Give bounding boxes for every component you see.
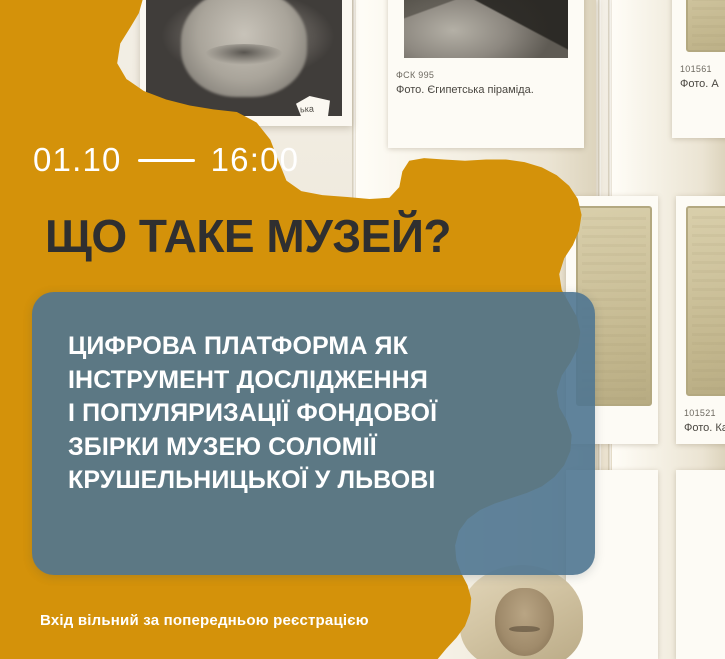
- subtitle-line-4: ЗБІРКИ МУЗЕЮ СОЛОМІЇ: [68, 431, 565, 465]
- subtitle-line-2: ІНСТРУМЕНТ ДОСЛІДЖЕННЯ: [68, 364, 565, 398]
- exhibit-card-pyramid: ФСК 995 Фото. Єгипетська піраміда.: [388, 0, 584, 148]
- exhibit-caption: Фото. Єгипетська піраміда.: [396, 84, 534, 96]
- portrait-face: [495, 588, 554, 656]
- exhibit-card-101561: 101561 Фото. А: [672, 0, 725, 138]
- exhibit-card-101521: 101521 Фото. Кар: [676, 196, 725, 444]
- exhibit-card-lower-right: [676, 470, 725, 659]
- subtitle-line-1: ЦИФРОВА ПЛАТФОРМА ЯК: [68, 330, 565, 364]
- exhibit-number: 101521: [684, 408, 716, 418]
- subtitle-panel: ЦИФРОВА ПЛАТФОРМА ЯК ІНСТРУМЕНТ ДОСЛІДЖЕ…: [32, 292, 595, 575]
- torn-edge-label: ька: [300, 104, 314, 115]
- subtitle-text: ЦИФРОВА ПЛАТФОРМА ЯК ІНСТРУМЕНТ ДОСЛІДЖЕ…: [68, 330, 565, 498]
- subtitle-line-3: І ПОПУЛЯРИЗАЦІЇ ФОНДОВОЇ: [68, 397, 565, 431]
- event-poster: ФСК 995 Фото. Єгипетська піраміда. 10156…: [0, 0, 725, 659]
- page-title: ЩО ТАКЕ МУЗЕЙ?: [45, 213, 451, 259]
- event-datetime: 01.10 16:00: [33, 141, 299, 179]
- registration-note: Вхід вільний за попередньою реєстрацією: [40, 612, 369, 629]
- exhibit-number: 101561: [680, 64, 712, 74]
- photo-framed-document-2: [686, 206, 725, 396]
- subtitle-line-5: КРУШЕЛЬНИЦЬКОЇ У ЛЬВОВІ: [68, 464, 565, 498]
- exhibit-caption: Фото. А: [680, 78, 719, 90]
- event-time: 16:00: [211, 141, 300, 179]
- exhibit-caption: Фото. Кар: [684, 422, 725, 434]
- photo-document-101561: [686, 0, 725, 52]
- datetime-separator-rule: [138, 159, 195, 162]
- photo-egyptian-pyramid: [404, 0, 568, 58]
- photo-portrait-woman-sepia: [452, 571, 586, 659]
- event-date: 01.10: [33, 141, 122, 179]
- exhibit-number: ФСК 995: [396, 70, 434, 80]
